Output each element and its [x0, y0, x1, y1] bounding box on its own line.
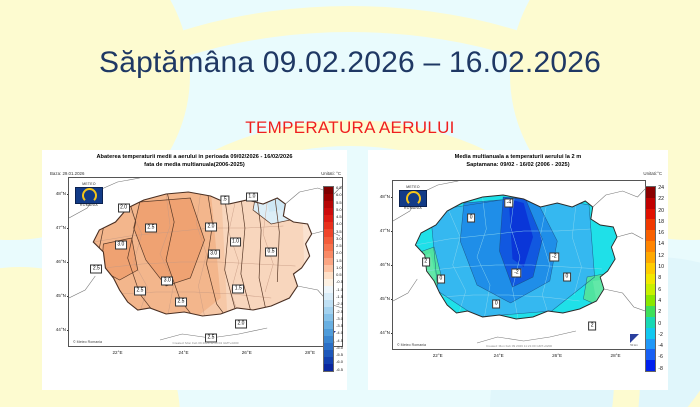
left-contour-label-5: 3.0: [161, 276, 173, 285]
colorbar-swatch: [646, 219, 655, 230]
left-map-title-line2: fata de media multianuala(2006-2025): [42, 162, 347, 170]
colorbar-swatch: [324, 272, 333, 279]
colorbar-tick-label: 24: [658, 186, 664, 191]
colorbar-tick-label: 5.5: [336, 201, 343, 205]
colorbar-swatch: [646, 360, 655, 371]
right-colorbar-labels: 242220181614121086420-2-4-6-8: [658, 186, 664, 372]
right-xticks: 22°E 24°E 26°E 28°E: [392, 350, 646, 362]
colorbar-swatch: [324, 208, 333, 215]
left-xtick-3: 28°E: [305, 350, 315, 355]
left-contour-label-2: 3.0: [115, 241, 127, 250]
left-contour-label-3: 2.5: [90, 264, 102, 273]
right-ytick-2: 46°N: [368, 262, 390, 267]
colorbar-tick-label: -6.5: [336, 368, 343, 372]
right-contour-label-4: -2: [512, 269, 521, 278]
colorbar-swatch: [646, 198, 655, 209]
right-map-credit: © Meteo Romania: [397, 343, 426, 347]
colorbar-swatch: [646, 263, 655, 274]
left-contour-label-13: 1.0: [230, 237, 242, 246]
colorbar-tick-label: -3.5: [336, 324, 343, 328]
colorbar-swatch: [646, 230, 655, 241]
colorbar-tick-label: 22: [658, 197, 664, 202]
colorbar-swatch: [324, 258, 333, 265]
right-plot-frame[interactable]: 0 0 0 0 -2 -2 -4 2 2 METEO ROMANIA © Met…: [392, 180, 646, 350]
left-contour-label-4: 3.0: [208, 249, 220, 258]
colorbar-swatch: [324, 222, 333, 229]
colorbar-swatch: [324, 364, 333, 371]
left-map-meta: Baza: 29.01.2026 Unitati: °C: [42, 169, 347, 177]
left-contour-label-0: 2.0: [118, 204, 130, 213]
colorbar-tick-label: 14: [658, 242, 664, 247]
right-colorbar[interactable]: 242220181614121086420-2-4-6-8: [645, 186, 664, 372]
colorbar-tick-label: 6.5: [336, 186, 343, 190]
colorbar-tick-label: 4.0: [336, 222, 343, 226]
left-xtick-2: 26°E: [242, 350, 252, 355]
meteo-romania-logo-left: METEO ROMANIA: [74, 183, 104, 207]
colorbar-tick-label: 6: [658, 288, 664, 293]
colorbar-swatch: [324, 265, 333, 272]
colorbar-tick-label: -1.5: [336, 295, 343, 299]
colorbar-tick-label: -5.0: [336, 346, 343, 350]
right-plot-wrap: 48°N 47°N 46°N 45°N 44°N: [392, 180, 646, 362]
colorbar-swatch: [646, 252, 655, 263]
colorbar-tick-label: 16: [658, 231, 664, 236]
right-xtick-0: 22°E: [433, 353, 443, 358]
left-contour-label-15: 0.5: [265, 248, 277, 257]
colorbar-swatch: [646, 339, 655, 350]
right-xtick-2: 26°E: [552, 353, 562, 358]
colorbar-swatch: [324, 343, 333, 350]
colorbar-swatch: [324, 307, 333, 314]
right-contour-label-6: -4: [504, 198, 513, 207]
colorbar-swatch: [646, 306, 655, 317]
colorbar-tick-label: 2: [658, 310, 664, 315]
colorbar-swatch: [646, 317, 655, 328]
colorbar-tick-label: -8: [658, 367, 664, 372]
left-ytick-3: 45°N: [44, 293, 66, 298]
map-panel-multiannual: Media multianuala a temperaturii aerului…: [368, 150, 668, 390]
colorbar-swatch: [324, 244, 333, 251]
left-map-title-line1: Abaterea temperaturii medii a aerului in…: [42, 154, 347, 162]
map-panel-anomaly: Abaterea temperaturii medii a aerului in…: [42, 150, 347, 390]
left-contour-label-7: 2.5: [175, 298, 187, 307]
colorbar-tick-label: -6.0: [336, 360, 343, 364]
left-map-title: Abaterea temperaturii medii a aerului in…: [42, 150, 347, 169]
colorbar-tick-label: 20: [658, 209, 664, 214]
left-map-credit: © Meteo Romania: [73, 340, 102, 344]
left-ytick-4: 44°N: [44, 327, 66, 332]
right-xtick-1: 24°E: [494, 353, 504, 358]
colorbar-tick-label: 12: [658, 254, 664, 259]
colorbar-swatch: [646, 349, 655, 360]
colorbar-swatch: [324, 314, 333, 321]
colorbar-swatch: [324, 229, 333, 236]
right-contour-label-2: 0: [492, 299, 500, 308]
right-map-title: Media multianuala a temperaturii aerului…: [368, 150, 668, 169]
left-colorbar-labels: 6.56.05.55.04.54.03.53.02.52.01.51.00.5-…: [336, 186, 343, 372]
logo-bottom-label-right: ROMANIA: [398, 207, 428, 211]
colorbar-tick-label: -2: [658, 333, 664, 338]
left-map-base-label: Baza: 29.01.2026: [50, 171, 84, 176]
right-contour-label-8: 2: [588, 321, 596, 330]
colorbar-tick-label: 10: [658, 265, 664, 270]
left-xticks: 22°E 24°E 26°E 28°E: [68, 347, 343, 359]
colorbar-tick-label: -2.0: [336, 302, 343, 306]
right-map-meta: Unitati:°C: [368, 169, 668, 177]
colorbar-tick-label: 18: [658, 220, 664, 225]
colorbar-tick-label: 4.5: [336, 215, 343, 219]
colorbar-tick-label: -3.0: [336, 317, 343, 321]
colorbar-swatch: [324, 350, 333, 357]
left-map-svg: [69, 178, 342, 346]
colorbar-swatch: [324, 300, 333, 307]
left-ytick-2: 46°N: [44, 259, 66, 264]
colorbar-swatch: [646, 328, 655, 339]
colorbar-swatch: [324, 293, 333, 300]
logo-bottom-label-left: ROMANIA: [74, 204, 104, 208]
colorbar-tick-label: -2.5: [336, 310, 343, 314]
colorbar-swatch: [646, 274, 655, 285]
left-colorbar[interactable]: 6.56.05.55.04.54.03.53.02.52.01.51.00.5-…: [323, 186, 343, 372]
meteo-romania-logo-right: METEO ROMANIA: [398, 186, 428, 210]
colorbar-tick-label: -4.5: [336, 339, 343, 343]
colorbar-tick-label: 1.0: [336, 266, 343, 270]
colorbar-swatch: [324, 194, 333, 201]
colorbar-tick-label: -1.0: [336, 288, 343, 292]
left-ytick-1: 47°N: [44, 225, 66, 230]
left-colorbar-strip: [323, 186, 334, 372]
left-contour-label-12: 1.5: [232, 284, 244, 293]
right-contour-label-5: -2: [550, 252, 559, 261]
meteo-badge-icon-right: [399, 190, 427, 207]
colorbar-swatch: [324, 187, 333, 194]
colorbar-tick-label: 5.0: [336, 208, 343, 212]
left-contour-label-14: 1.0: [246, 192, 258, 201]
right-map-svg: [393, 181, 645, 349]
meteo-badge-icon-left: [75, 187, 103, 204]
right-scale-label: 50 km: [626, 343, 642, 347]
colorbar-swatch: [324, 251, 333, 258]
right-contour-label-0: 0: [467, 214, 475, 223]
left-map-credit-center: Created: Mon Feb 09 2026 11:20:04 GMT+02…: [172, 341, 238, 345]
colorbar-tick-label: 6.0: [336, 193, 343, 197]
left-plot-wrap: 48°N 47°N 46°N 45°N 44°N: [68, 177, 343, 359]
colorbar-swatch: [324, 215, 333, 222]
left-contour-label-1: 2.5: [145, 224, 157, 233]
colorbar-swatch: [324, 336, 333, 343]
colorbar-swatch: [646, 209, 655, 220]
left-xtick-1: 24°E: [178, 350, 188, 355]
right-map-title-line1: Media multianuala a temperaturii aerului…: [368, 154, 668, 162]
right-xtick-3: 28°E: [611, 353, 621, 358]
colorbar-tick-label: 8: [658, 276, 664, 281]
colorbar-swatch: [646, 241, 655, 252]
colorbar-tick-label: 3.5: [336, 230, 343, 234]
right-map-credit-center: Created: Mon Feb 09 2026 11:21:00 GMT+02…: [486, 344, 552, 348]
colorbar-swatch: [646, 187, 655, 198]
right-ytick-1: 47°N: [368, 228, 390, 233]
colorbar-tick-label: -6: [658, 355, 664, 360]
colorbar-swatch: [324, 357, 333, 364]
right-contour-label-3: 0: [563, 272, 571, 281]
colorbar-swatch: [324, 329, 333, 336]
left-contour-label-6: 2.5: [134, 286, 146, 295]
left-contour-label-9: 2.0: [235, 320, 247, 329]
colorbar-tick-label: 1.5: [336, 259, 343, 263]
colorbar-swatch: [646, 284, 655, 295]
north-arrow-icon-right: [630, 334, 639, 343]
right-map-title-line2: Saptamana: 09/02 - 16/02 (2006 - 2025): [368, 162, 668, 170]
colorbar-swatch: [324, 321, 333, 328]
colorbar-tick-label: 2.0: [336, 251, 343, 255]
colorbar-swatch: [646, 295, 655, 306]
page-title: Săptămâna 09.02.2026 – 16.02.2026: [0, 46, 700, 80]
colorbar-swatch: [324, 279, 333, 286]
right-contour-label-7: 2: [422, 257, 430, 266]
colorbar-tick-label: -0.5: [336, 280, 343, 284]
left-map-units-label: Unitati: °C: [321, 171, 341, 176]
left-contour-label-11: 2.0: [205, 222, 217, 231]
colorbar-tick-label: 3.0: [336, 237, 343, 241]
colorbar-tick-label: -4: [658, 344, 664, 349]
colorbar-tick-label: 0: [658, 322, 664, 327]
colorbar-tick-label: -5.5: [336, 353, 343, 357]
right-ytick-0: 48°N: [368, 194, 390, 199]
colorbar-swatch: [324, 237, 333, 244]
right-colorbar-strip: [645, 186, 656, 372]
colorbar-swatch: [324, 286, 333, 293]
colorbar-tick-label: 0.5: [336, 273, 343, 277]
right-ytick-3: 45°N: [368, 296, 390, 301]
left-contour-label-16: .5: [220, 195, 229, 204]
right-ytick-4: 44°N: [368, 330, 390, 335]
left-plot-frame[interactable]: 2.0 2.5 3.0 2.5 3.0 3.0 2.5 2.5 2.5 2.0 …: [68, 177, 343, 347]
colorbar-tick-label: 2.5: [336, 244, 343, 248]
colorbar-swatch: [324, 201, 333, 208]
colorbar-tick-label: 4: [658, 299, 664, 304]
right-scale-bar: 50 km: [626, 334, 642, 347]
left-ytick-0: 48°N: [44, 191, 66, 196]
right-map-units-label: Unitati:°C: [643, 171, 662, 176]
colorbar-tick-label: -4.0: [336, 331, 343, 335]
left-xtick-0: 22°E: [112, 350, 122, 355]
page-subtitle: TEMPERATURA AERULUI: [0, 118, 700, 138]
right-contour-label-1: 0: [437, 274, 445, 283]
